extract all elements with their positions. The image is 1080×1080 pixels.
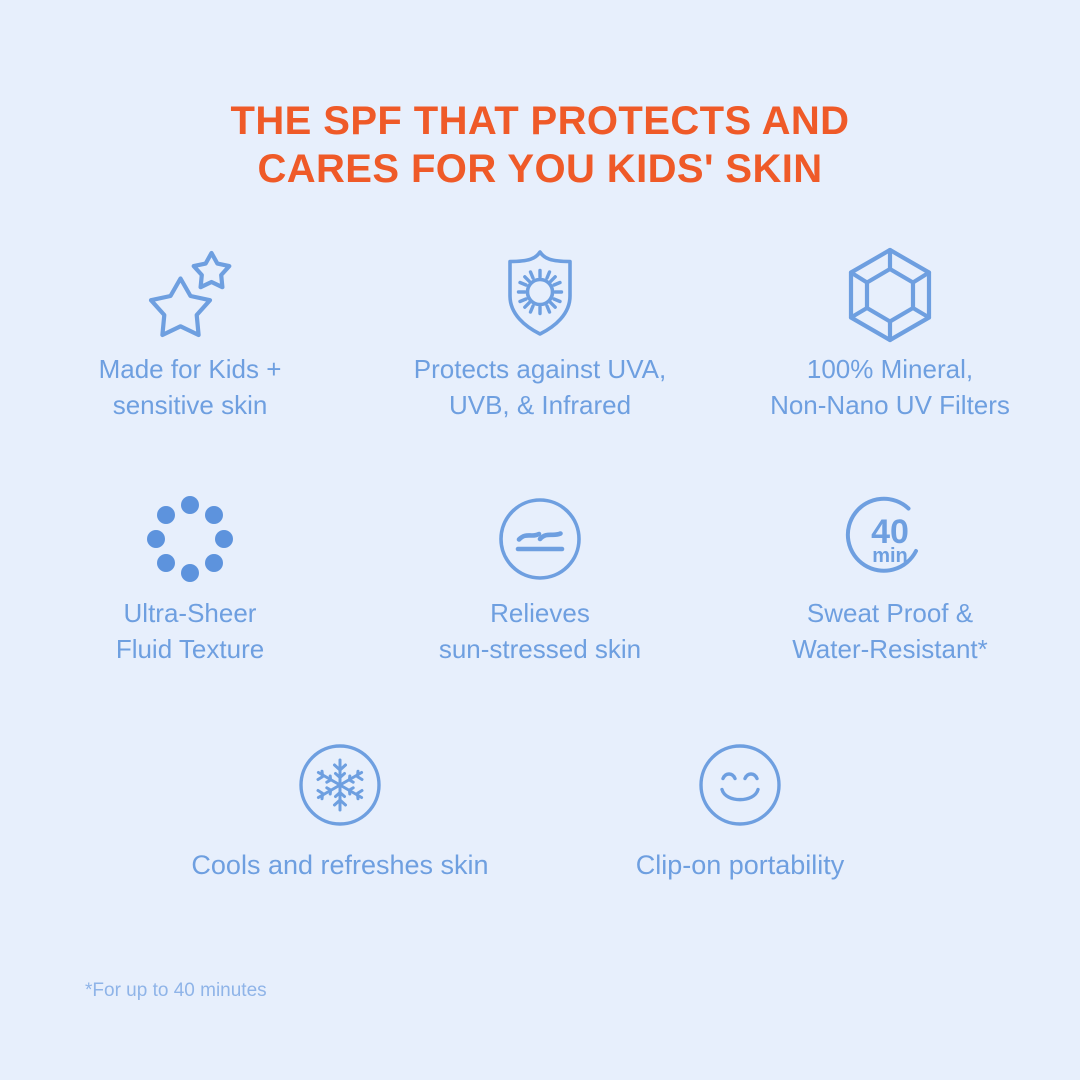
page-title: THE SPF THAT PROTECTS AND CARES FOR YOU …: [0, 97, 1080, 193]
feature-cools-refreshes: Cools and refreshes skin: [140, 739, 540, 883]
feature-protects-uva-uvb: Protects against UVA, UVB, & Infrared: [365, 245, 715, 423]
double-star-icon: [142, 245, 238, 341]
feature-label: Clip-on portability: [636, 847, 845, 883]
feature-sweat-water-resistant: 40 min Sweat Proof & Water-Resistant*: [715, 493, 1065, 667]
feature-made-for-kids: Made for Kids + sensitive skin: [15, 245, 365, 423]
promo-feature-graphic: THE SPF THAT PROTECTS AND CARES FOR YOU …: [0, 0, 1080, 1080]
mineral-gem-hexagon-icon: [844, 245, 936, 341]
feature-row-3: Cools and refreshes skin Clip-on portabi…: [0, 739, 1080, 883]
snowflake-circle-icon: [298, 739, 382, 831]
forty-minutes-badge-icon: 40 min: [846, 493, 934, 585]
page-title-line-1: THE SPF THAT PROTECTS AND: [0, 97, 1080, 145]
feature-label: Protects against UVA, UVB, & Infrared: [414, 351, 666, 423]
feature-label: Cools and refreshes skin: [191, 847, 488, 883]
feature-relieves-sun-stress: Relieves sun-stressed skin: [365, 493, 715, 667]
badge-unit: min: [872, 545, 908, 567]
footnote: *For up to 40 minutes: [85, 978, 267, 1004]
page-title-line-2: CARES FOR YOU KIDS' SKIN: [0, 145, 1080, 193]
feature-row-1: Made for Kids + sensitive skin: [0, 245, 1080, 423]
feature-mineral-filters: 100% Mineral, Non-Nano UV Filters: [715, 245, 1065, 423]
soothing-waves-circle-icon: [498, 493, 582, 585]
feature-label: Relieves sun-stressed skin: [439, 595, 641, 667]
feature-label: Sweat Proof & Water-Resistant*: [792, 595, 988, 667]
smiley-face-circle-icon: [698, 739, 782, 831]
shield-sun-icon: [501, 245, 579, 341]
feature-row-2: Ultra-Sheer Fluid Texture Relieves sun-s…: [0, 493, 1080, 667]
feature-label: Ultra-Sheer Fluid Texture: [116, 595, 264, 667]
feature-label: Made for Kids + sensitive skin: [99, 351, 282, 423]
feature-grid: Made for Kids + sensitive skin: [0, 245, 1080, 883]
feature-clip-on-portability: Clip-on portability: [540, 739, 940, 883]
feature-ultra-sheer-texture: Ultra-Sheer Fluid Texture: [15, 493, 365, 667]
feature-label: 100% Mineral, Non-Nano UV Filters: [770, 351, 1010, 423]
dot-ring-icon: [147, 493, 233, 585]
